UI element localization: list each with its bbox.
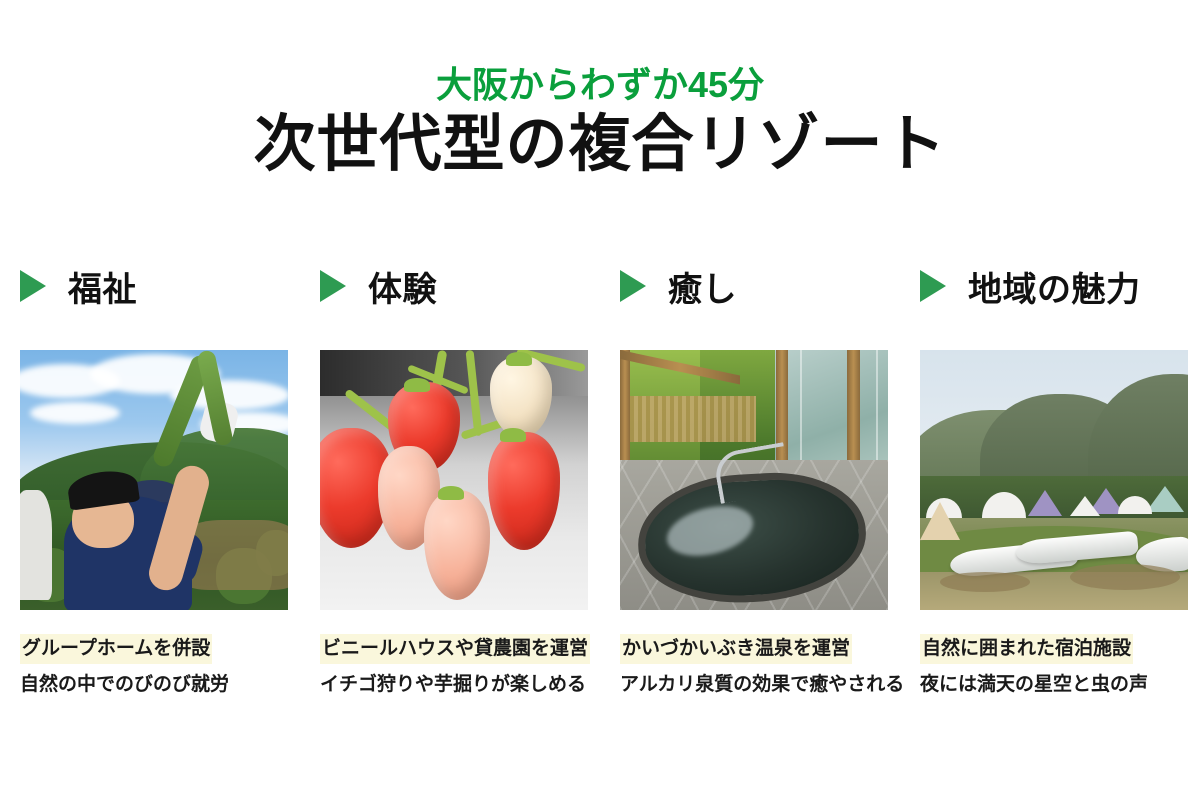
column-header: 体験 bbox=[320, 255, 600, 317]
page-title: 次世代型の複合リゾート bbox=[0, 112, 1200, 179]
photo-strawberries bbox=[320, 350, 588, 610]
feature-column-welfare: 福祉 bbox=[0, 255, 300, 698]
poster-header: 大阪からわずか45分 次世代型の複合リゾート bbox=[0, 0, 1200, 179]
triangle-right-icon bbox=[20, 270, 46, 302]
photo-farm-worker bbox=[20, 350, 288, 610]
feature-columns: 福祉 bbox=[0, 255, 1200, 698]
photo-onsen-bath bbox=[620, 350, 888, 610]
caption-highlight: ビニールハウスや貸農園を運営 bbox=[320, 634, 590, 664]
column-title: 福祉 bbox=[68, 262, 137, 311]
column-header: 地域の魅力 bbox=[920, 255, 1200, 317]
caption-highlight: グループホームを併設 bbox=[20, 634, 212, 664]
caption-sub: 夜には満天の星空と虫の声 bbox=[920, 671, 1200, 699]
column-header: 福祉 bbox=[20, 255, 300, 317]
feature-column-healing: 癒し かいづかいぶき温泉を運営 bbox=[600, 255, 900, 698]
column-title: 地域の魅力 bbox=[968, 262, 1141, 311]
eyebrow-text: 大阪からわずか45分 bbox=[0, 66, 1200, 104]
promo-poster: 大阪からわずか45分 次世代型の複合リゾート 福祉 bbox=[0, 0, 1200, 801]
caption-block: ビニールハウスや貸農園を運営 イチゴ狩りや芋掘りが楽しめる bbox=[320, 634, 600, 698]
caption-sub: アルカリ泉質の効果で癒やされる bbox=[620, 671, 900, 699]
caption-highlight: かいづかいぶき温泉を運営 bbox=[620, 634, 852, 664]
caption-sub: 自然の中でのびのび就労 bbox=[20, 671, 300, 699]
caption-highlight: 自然に囲まれた宿泊施設 bbox=[920, 634, 1133, 664]
column-title: 癒し bbox=[668, 262, 737, 311]
caption-sub: イチゴ狩りや芋掘りが楽しめる bbox=[320, 671, 600, 699]
triangle-right-icon bbox=[320, 270, 346, 302]
triangle-right-icon bbox=[620, 270, 646, 302]
feature-column-local-charm: 地域の魅力 bbox=[900, 255, 1200, 698]
feature-column-experience: 体験 bbox=[300, 255, 600, 698]
caption-block: 自然に囲まれた宿泊施設 夜には満天の星空と虫の声 bbox=[920, 634, 1200, 698]
photo-glamping-site bbox=[920, 350, 1188, 610]
triangle-right-icon bbox=[920, 270, 946, 302]
caption-block: かいづかいぶき温泉を運営 アルカリ泉質の効果で癒やされる bbox=[620, 634, 900, 698]
caption-block: グループホームを併設 自然の中でのびのび就労 bbox=[20, 634, 300, 698]
column-header: 癒し bbox=[620, 255, 900, 317]
column-title: 体験 bbox=[368, 262, 437, 311]
